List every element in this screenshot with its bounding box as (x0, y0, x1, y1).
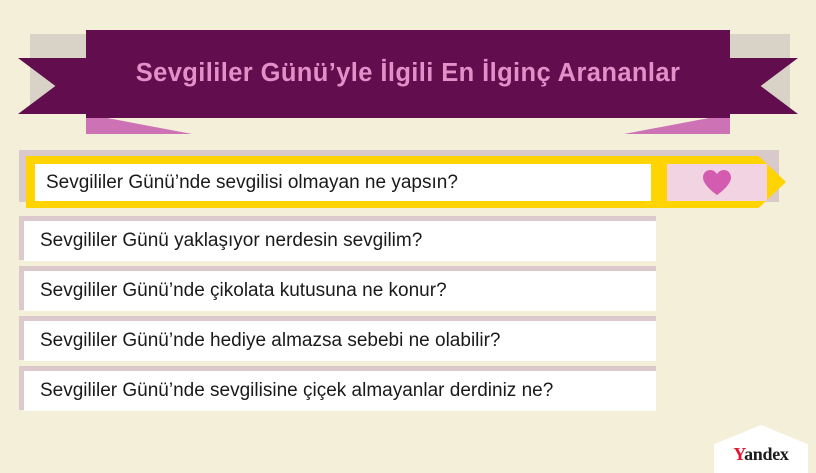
banner: Sevgililer Günü’yle İlgili En İlginç Ara… (0, 28, 816, 116)
list-item-body: Sevgililer Günü yaklaşıyor nerdesin sevg… (24, 221, 656, 261)
search-queries-list: Sevgililer Günü’nde sevgilisi olmayan ne… (0, 150, 816, 416)
list-item[interactable]: Sevgililer Günü’nde çikolata kutusuna ne… (0, 266, 816, 314)
ribbon-body: Sevgililer Günü’yle İlgili En İlginç Ara… (86, 30, 730, 118)
page-title: Sevgililer Günü’yle İlgili En İlginç Ara… (136, 61, 681, 87)
heart-icon (702, 169, 732, 196)
logo-wordmark: Yandex (714, 444, 808, 465)
list-item[interactable]: Sevgililer Günü yaklaşıyor nerdesin sevg… (0, 216, 816, 264)
list-item-label: Sevgililer Günü yaklaşıyor nerdesin sevg… (24, 230, 422, 252)
yandex-logo: Yandex (714, 425, 808, 473)
heart-badge (667, 164, 767, 201)
list-item-label: Sevgililer Günü’nde çikolata kutusuna ne… (24, 280, 447, 302)
list-item-highlighted[interactable]: Sevgililer Günü’nde sevgilisi olmayan ne… (0, 150, 816, 209)
list-item-body: Sevgililer Günü’nde sevgilisine çiçek al… (24, 371, 656, 411)
logo-letters-rest: andex (744, 444, 789, 464)
highlight-text-panel: Sevgililer Günü’nde sevgilisi olmayan ne… (35, 164, 651, 201)
list-item-body: Sevgililer Günü’nde çikolata kutusuna ne… (24, 271, 656, 311)
list-item-label: Sevgililer Günü’nde sevgilisine çiçek al… (24, 380, 553, 402)
list-item-body: Sevgililer Günü’nde hediye almazsa sebeb… (24, 321, 656, 361)
list-item-label: Sevgililer Günü’nde sevgilisi olmayan ne… (35, 172, 458, 194)
list-item-label: Sevgililer Günü’nde hediye almazsa sebeb… (24, 330, 501, 352)
list-item[interactable]: Sevgililer Günü’nde hediye almazsa sebeb… (0, 316, 816, 364)
logo-letter-y: Y (733, 444, 744, 464)
list-item[interactable]: Sevgililer Günü’nde sevgilisine çiçek al… (0, 366, 816, 414)
